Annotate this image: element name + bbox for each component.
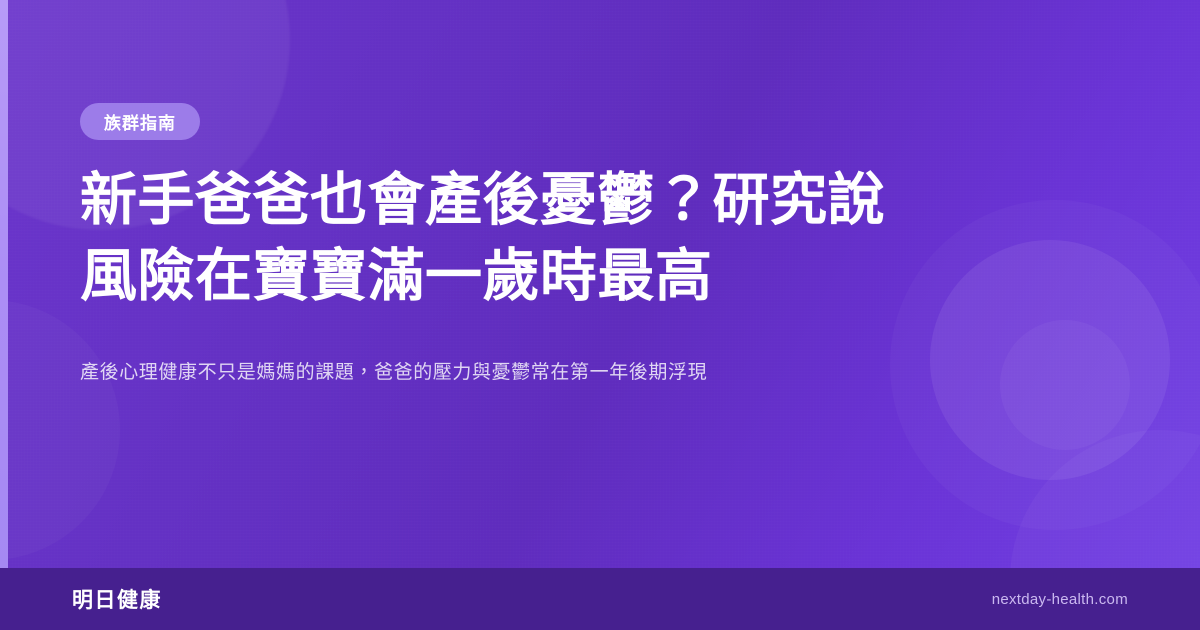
card-footer: 明日健康 nextday-health.com <box>0 568 1200 630</box>
page-title-line-2: 風險在寶寶滿一歲時最高 <box>80 238 930 314</box>
social-share-card: 族群指南 新手爸爸也會產後憂鬱？研究說 風險在寶寶滿一歲時最高 產後心理健康不只… <box>0 0 1200 630</box>
page-subtitle: 產後心理健康不只是媽媽的課題，爸爸的壓力與憂鬱常在第一年後期浮現 <box>80 358 960 388</box>
page-title-line-1: 新手爸爸也會產後憂鬱？研究說 <box>80 162 930 238</box>
right-circle-core-decoration <box>1000 320 1130 450</box>
right-circle-decoration <box>930 240 1170 480</box>
page-title: 新手爸爸也會產後憂鬱？研究說 風險在寶寶滿一歲時最高 <box>80 162 930 314</box>
left-accent-bar <box>0 0 8 568</box>
category-badge: 族群指南 <box>80 103 200 140</box>
background-texture-overlay <box>0 0 1200 630</box>
site-url: nextday-health.com <box>992 591 1128 608</box>
mid-left-circle-decoration <box>0 300 120 560</box>
brand-name: 明日健康 <box>72 584 162 614</box>
